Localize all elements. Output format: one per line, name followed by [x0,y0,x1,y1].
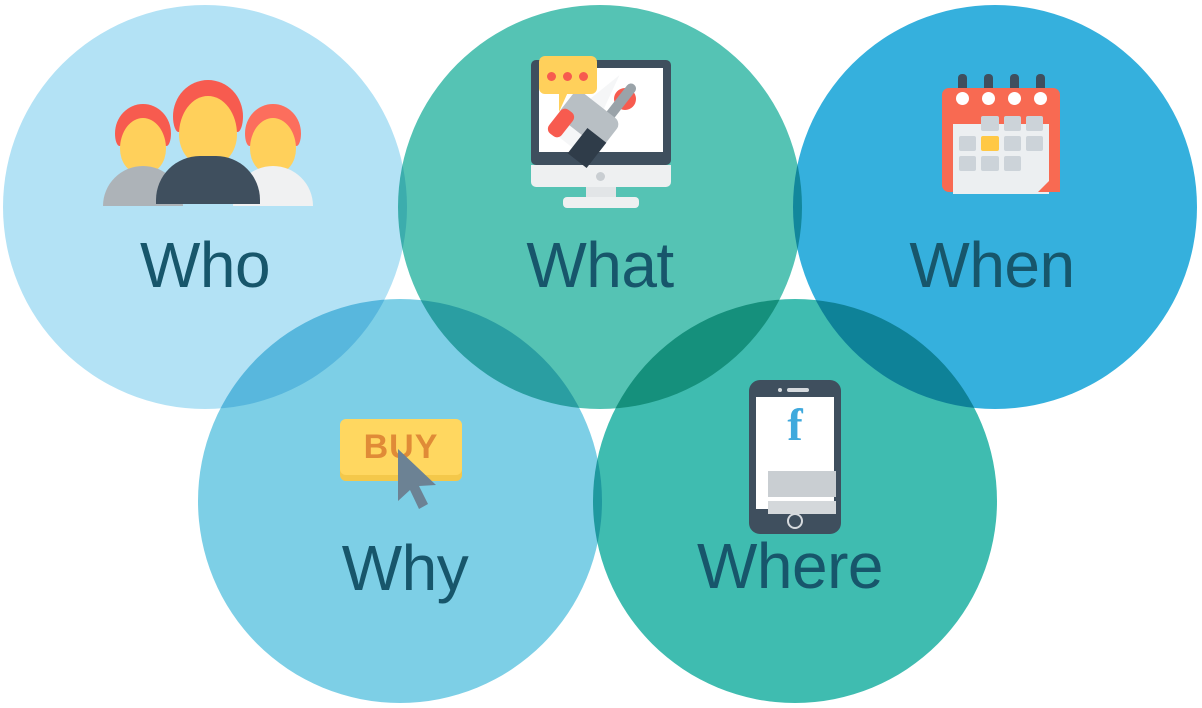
person-center-body [156,156,260,204]
calendar-day-cell [1004,116,1021,131]
circle-label-where: Where [697,534,883,598]
monitor-stand-foot [563,197,639,208]
people-group-icon [103,80,313,200]
calendar-ring-hole-1 [956,92,969,105]
venn-diagram-canvas: BUY f Who What When Why Where [0,0,1202,708]
circle-label-when: When [909,233,1074,297]
calendar-ring-hole-4 [1034,92,1047,105]
phone-home-button[interactable] [787,513,803,529]
monitor-megaphone-icon [517,60,685,210]
person-center [156,80,260,200]
phone-camera [778,388,782,392]
calendar-day-cell [959,156,976,171]
calendar-day-cell [981,156,998,171]
smartphone-facebook-icon: f [749,380,841,534]
calendar-day-cell [1026,136,1043,151]
phone-content-bar-1 [768,471,836,497]
calendar-ring-hole-3 [1008,92,1021,105]
speech-bubble-dot-1 [547,72,556,81]
circle-label-what: What [526,233,673,297]
calendar-day-cell [1026,116,1043,131]
phone-content-bar-2 [768,501,836,514]
calendar-day-cell [959,136,976,151]
calendar-day-cell [959,116,976,131]
speech-bubble-dot-3 [579,72,588,81]
calendar-day-cell [1004,136,1021,151]
calendar-day-grid [959,116,1043,171]
buy-button-cursor-icon: BUY [334,415,474,525]
mouse-cursor-icon [396,449,442,511]
calendar-day-cell [981,116,998,131]
speech-bubble [539,56,597,94]
circle-label-why: Why [342,536,469,600]
circle-label-who: Who [140,233,270,297]
calendar-ring-hole-2 [982,92,995,105]
facebook-logo-icon: f [787,402,802,448]
calendar-icon [942,74,1060,192]
speech-bubble-dot-2 [563,72,572,81]
monitor-power-dot [596,172,605,181]
calendar-day-cell [1026,156,1043,171]
calendar-day-cell [1004,156,1021,171]
calendar-today-cell [981,136,998,151]
phone-speaker [787,388,809,392]
speech-bubble-tail [559,92,568,112]
